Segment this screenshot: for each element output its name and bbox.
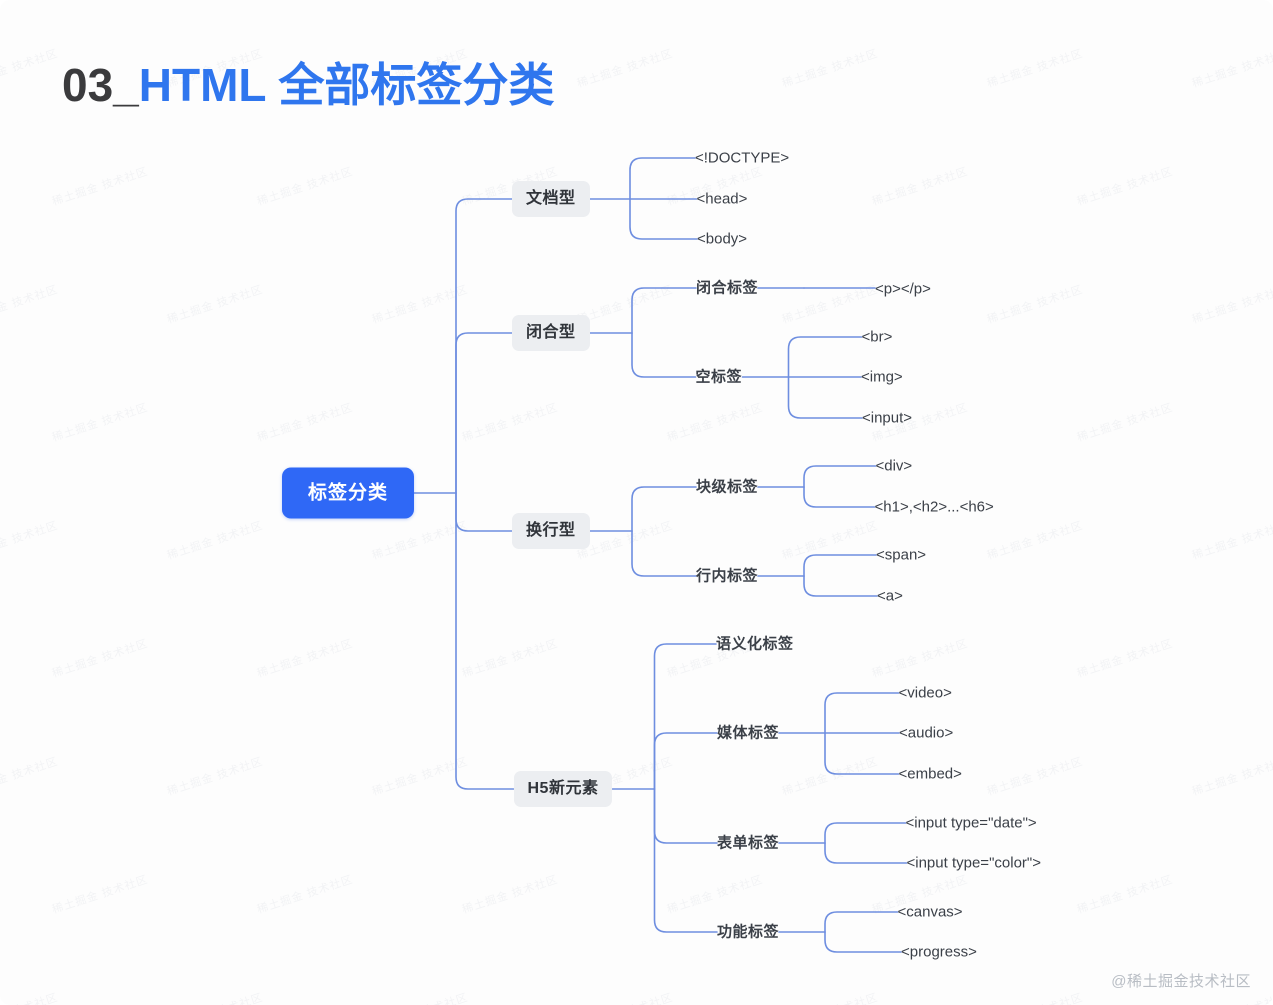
mindmap-leaf-1-1-0[interactable]: <br> xyxy=(862,327,893,348)
watermark-tile: 稀土掘金 技术社区 xyxy=(0,517,60,563)
page-title: 03_HTML 全部标签分类 xyxy=(62,62,554,108)
mindmap-branch-1[interactable]: 闭合型 xyxy=(512,315,590,351)
mindmap-leaf-3-1-2[interactable]: <embed> xyxy=(899,764,962,785)
watermark-tile: 稀土掘金 技术社区 xyxy=(985,281,1085,327)
connector xyxy=(825,932,901,952)
mindmap-leaf-2-0-1[interactable]: <h1>,<h2>...<h6> xyxy=(875,497,994,518)
watermark-tile: 稀土掘金 技术社区 xyxy=(780,753,880,799)
watermark-tile: 稀土掘金 技术社区 xyxy=(370,517,470,563)
mindmap-canvas: 稀土掘金 技术社区稀土掘金 技术社区稀土掘金 技术社区稀土掘金 技术社区稀土掘金… xyxy=(0,0,1273,1005)
mindmap-leaf-1-0-0[interactable]: <p></p> xyxy=(875,279,931,300)
connector xyxy=(804,576,877,596)
watermark-tile: 稀土掘金 技术社区 xyxy=(985,989,1085,1005)
mindmap-sub-1-1[interactable]: 空标签 xyxy=(696,367,743,388)
watermark-tile: 稀土掘金 技术社区 xyxy=(50,635,150,681)
watermark-tile: 稀土掘金 技术社区 xyxy=(575,989,675,1005)
mindmap-leaf-2-0-0[interactable]: <div> xyxy=(876,456,913,477)
watermark-tile: 稀土掘金 技术社区 xyxy=(370,281,470,327)
watermark-tile: 稀土掘金 技术社区 xyxy=(665,871,765,917)
watermark-tile: 稀土掘金 技术社区 xyxy=(985,753,1085,799)
connector xyxy=(632,333,696,377)
watermark-tile: 稀土掘金 技术社区 xyxy=(575,517,675,563)
watermark-tile: 稀土掘金 技术社区 xyxy=(0,281,60,327)
mindmap-leaf-1-1-2[interactable]: <input> xyxy=(862,408,912,429)
connector xyxy=(789,377,863,418)
connector xyxy=(804,555,876,576)
watermark-tile: 稀土掘金 技术社区 xyxy=(1075,635,1175,681)
watermark-tile: 稀土掘金 技术社区 xyxy=(870,635,970,681)
watermark-tile: 稀土掘金 技术社区 xyxy=(255,635,355,681)
watermark-tile: 稀土掘金 技术社区 xyxy=(165,281,265,327)
watermark-tile: 稀土掘金 技术社区 xyxy=(255,163,355,209)
watermark-tile: 稀土掘金 技术社区 xyxy=(0,45,60,91)
mindmap-sub-2-1[interactable]: 行内标签 xyxy=(696,566,758,587)
watermark-tile: 稀土掘金 技术社区 xyxy=(575,281,675,327)
connector xyxy=(825,823,906,843)
watermark-tile: 稀土掘金 技术社区 xyxy=(665,399,765,445)
mindmap-branch-2[interactable]: 换行型 xyxy=(512,513,590,549)
connector xyxy=(630,199,697,239)
mindmap-sub-0-0[interactable]: <!DOCTYPE> xyxy=(695,148,789,169)
connector xyxy=(804,466,876,487)
watermark-tile: 稀土掘金 技术社区 xyxy=(1190,989,1273,1005)
mindmap-leaf-2-1-1[interactable]: <a> xyxy=(877,586,903,607)
watermark-tile: 稀土掘金 技术社区 xyxy=(460,399,560,445)
connector xyxy=(804,487,875,507)
mindmap-leaf-3-3-0[interactable]: <canvas> xyxy=(898,902,963,923)
mindmap-branch-0[interactable]: 文档型 xyxy=(512,181,590,217)
watermark-tile: 稀土掘金 技术社区 xyxy=(780,989,880,1005)
watermark-tile: 稀土掘金 技术社区 xyxy=(460,871,560,917)
watermark-tile: 稀土掘金 技术社区 xyxy=(370,753,470,799)
mindmap-sub-0-1[interactable]: <head> xyxy=(697,189,748,210)
watermark-tile: 稀土掘金 技术社区 xyxy=(780,45,880,91)
mindmap-sub-1-0[interactable]: 闭合标签 xyxy=(696,278,758,299)
watermark-tile: 稀土掘金 技术社区 xyxy=(370,989,470,1005)
watermark-tile: 稀土掘金 技术社区 xyxy=(255,871,355,917)
watermark-tile: 稀土掘金 技术社区 xyxy=(0,753,60,799)
mindmap-sub-0-2[interactable]: <body> xyxy=(697,229,747,250)
watermark-tile: 稀土掘金 技术社区 xyxy=(1190,45,1273,91)
watermark-tile: 稀土掘金 技术社区 xyxy=(1075,871,1175,917)
watermark-tile: 稀土掘金 技术社区 xyxy=(165,517,265,563)
watermark-tile: 稀土掘金 技术社区 xyxy=(165,753,265,799)
watermark-tile: 稀土掘金 技术社区 xyxy=(255,399,355,445)
connector xyxy=(456,493,514,789)
watermark-tile: 稀土掘金 技术社区 xyxy=(575,45,675,91)
title-number: 03_ xyxy=(62,59,139,111)
mindmap-leaf-2-1-0[interactable]: <span> xyxy=(876,545,926,566)
mindmap-leaf-1-1-1[interactable]: <img> xyxy=(861,367,903,388)
watermark-tile: 稀土掘金 技术社区 xyxy=(1190,517,1273,563)
mindmap-leaf-3-1-0[interactable]: <video> xyxy=(899,683,952,704)
mindmap-sub-2-0[interactable]: 块级标签 xyxy=(696,477,758,498)
watermark-tile: 稀土掘金 技术社区 xyxy=(1190,753,1273,799)
mindmap-leaf-3-3-1[interactable]: <progress> xyxy=(901,942,977,963)
watermark-tile: 稀土掘金 技术社区 xyxy=(50,399,150,445)
watermark-tile: 稀土掘金 技术社区 xyxy=(870,163,970,209)
watermark-tile: 稀土掘金 技术社区 xyxy=(780,281,880,327)
connector xyxy=(456,333,512,493)
mindmap-root-node[interactable]: 标签分类 xyxy=(282,468,414,519)
mindmap-sub-3-3[interactable]: 功能标签 xyxy=(717,922,779,943)
mindmap-sub-3-1[interactable]: 媒体标签 xyxy=(717,723,779,744)
connector xyxy=(825,693,899,733)
watermark-tile: 稀土掘金 技术社区 xyxy=(165,989,265,1005)
connector xyxy=(789,337,862,377)
watermark-tile: 稀土掘金 技术社区 xyxy=(780,517,880,563)
watermark-tile: 稀土掘金 技术社区 xyxy=(0,989,60,1005)
watermark-tile: 稀土掘金 技术社区 xyxy=(1075,163,1175,209)
connector xyxy=(825,912,898,932)
mindmap-branch-3[interactable]: H5新元素 xyxy=(514,771,613,807)
watermark-tile: 稀土掘金 技术社区 xyxy=(985,45,1085,91)
watermark-tile: 稀土掘金 技术社区 xyxy=(50,871,150,917)
connector-lines xyxy=(0,0,1273,1005)
mindmap-leaf-3-1-1[interactable]: <audio> xyxy=(899,723,953,744)
watermark-tile: 稀土掘金 技术社区 xyxy=(460,635,560,681)
connector xyxy=(655,789,718,843)
connector xyxy=(825,843,907,863)
watermark-tile: 稀土掘金 技术社区 xyxy=(1190,281,1273,327)
mindmap-leaf-3-2-0[interactable]: <input type="date"> xyxy=(906,813,1037,834)
mindmap-sub-3-2[interactable]: 表单标签 xyxy=(717,833,779,854)
watermark-tile: 稀土掘金 技术社区 xyxy=(50,163,150,209)
mindmap-leaf-3-2-1[interactable]: <input type="color"> xyxy=(907,853,1042,874)
credit-watermark: @稀土掘金技术社区 xyxy=(1111,970,1251,991)
watermark-tile: 稀土掘金 技术社区 xyxy=(1075,399,1175,445)
mindmap-sub-3-0[interactable]: 语义化标签 xyxy=(716,634,794,655)
title-main: HTML 全部标签分类 xyxy=(139,59,555,111)
connector xyxy=(456,199,512,493)
watermark-tile: 稀土掘金 技术社区 xyxy=(985,517,1085,563)
